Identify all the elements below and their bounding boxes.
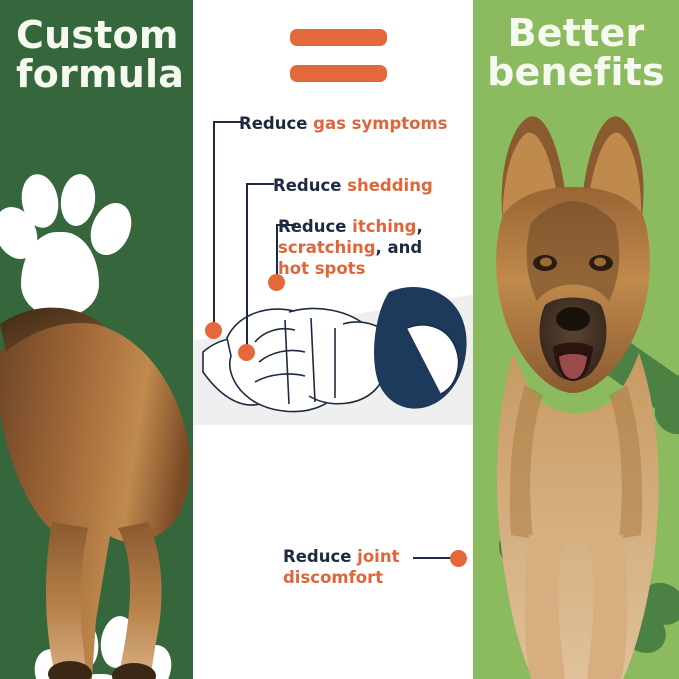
right-panel-heading: Better benefits: [480, 14, 672, 92]
connector-dot-gas: [205, 322, 222, 339]
connector-dot-itching: [268, 274, 285, 291]
right-heading-line-1: Better: [480, 14, 672, 53]
callout-gas-symptoms: Reduce gas symptoms: [239, 113, 475, 134]
callout-itching-suffix: ,: [416, 217, 422, 236]
callout-joint-discomfort: Reduce joint discomfort: [283, 546, 433, 588]
connector-dot-shedding: [238, 344, 255, 361]
callout-scratching-suffix: , and: [376, 238, 423, 257]
dog-portrait-photo: [473, 95, 679, 679]
callout-gas-highlight: gas symptoms: [313, 114, 447, 133]
callout-itching: Reduce itching, scratching, and hot spot…: [278, 216, 478, 279]
callout-itching-prefix: Reduce: [278, 217, 352, 236]
divider-bar-top: [290, 29, 387, 46]
left-heading-line-1: Custom: [16, 16, 196, 55]
connector-dot-joint: [450, 550, 467, 567]
callout-hotspots-highlight: hot spots: [278, 259, 365, 278]
callout-joint-prefix: Reduce: [283, 547, 357, 566]
callout-gas-prefix: Reduce: [239, 114, 313, 133]
infographic-canvas: Custom formula Better benefits Reduce ga…: [0, 0, 679, 679]
connector-line-shedding: [246, 183, 274, 353]
callout-shedding-highlight: shedding: [347, 176, 433, 195]
callout-scratching-highlight: scratching: [278, 238, 376, 257]
right-heading-line-2: benefits: [480, 53, 672, 92]
callout-itching-highlight: itching: [352, 217, 416, 236]
callout-discomfort-highlight: discomfort: [283, 568, 383, 587]
divider-bar-bottom: [290, 65, 387, 82]
connector-line-gas: [213, 121, 241, 331]
left-heading-line-2: formula: [16, 55, 196, 94]
left-panel-heading: Custom formula: [16, 16, 196, 94]
callout-shedding-prefix: Reduce: [273, 176, 347, 195]
callout-joint-highlight: joint: [357, 547, 399, 566]
callout-shedding: Reduce shedding: [273, 175, 478, 196]
